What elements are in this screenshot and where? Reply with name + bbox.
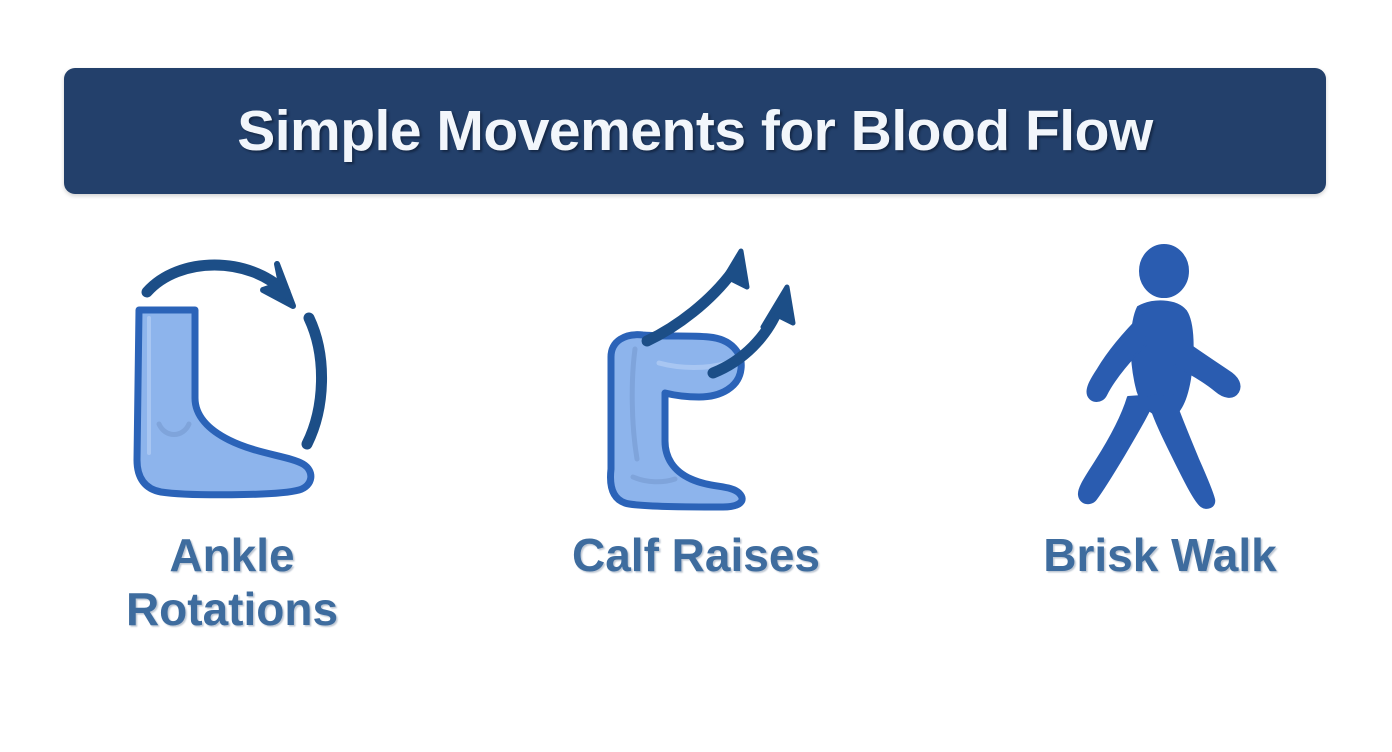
rotation-arc-bottom bbox=[307, 318, 322, 444]
foot-shape bbox=[137, 310, 311, 495]
movements-row: Ankle Rotations bbox=[0, 235, 1392, 695]
movement-label-line-1: Ankle bbox=[126, 528, 338, 582]
movement-label-line-1: Calf Raises bbox=[572, 528, 820, 582]
calf-arrow-1-head bbox=[717, 251, 747, 291]
walking-person-icon bbox=[1060, 245, 1260, 510]
movement-label-brisk-walk: Brisk Walk bbox=[1043, 528, 1277, 582]
title-banner: Simple Movements for Blood Flow bbox=[64, 68, 1326, 194]
icon-container-brisk-walk bbox=[1010, 235, 1310, 520]
walker-front-leg bbox=[1148, 393, 1214, 508]
page-title: Simple Movements for Blood Flow bbox=[237, 103, 1153, 160]
icon-container-calf-raises bbox=[546, 235, 846, 520]
foot-rotation-icon bbox=[117, 248, 347, 508]
movement-label-line-1: Brisk Walk bbox=[1043, 528, 1277, 582]
walker-back-leg bbox=[1079, 395, 1156, 503]
infographic-poster: Simple Movements for Blood Flow bbox=[0, 0, 1392, 752]
movement-label-calf-raises: Calf Raises bbox=[572, 528, 820, 582]
movement-item-calf-raises: Calf Raises bbox=[486, 235, 906, 582]
movement-label-line-2: Rotations bbox=[126, 582, 338, 636]
movement-item-ankle-rotations: Ankle Rotations bbox=[22, 235, 442, 637]
calf-raise-icon bbox=[581, 245, 811, 510]
walker-head bbox=[1140, 245, 1188, 297]
movement-item-brisk-walk: Brisk Walk bbox=[950, 235, 1370, 582]
calf-leg-shape bbox=[611, 335, 743, 507]
movement-label-ankle-rotations: Ankle Rotations bbox=[126, 528, 338, 637]
icon-container-ankle-rotations bbox=[82, 235, 382, 520]
